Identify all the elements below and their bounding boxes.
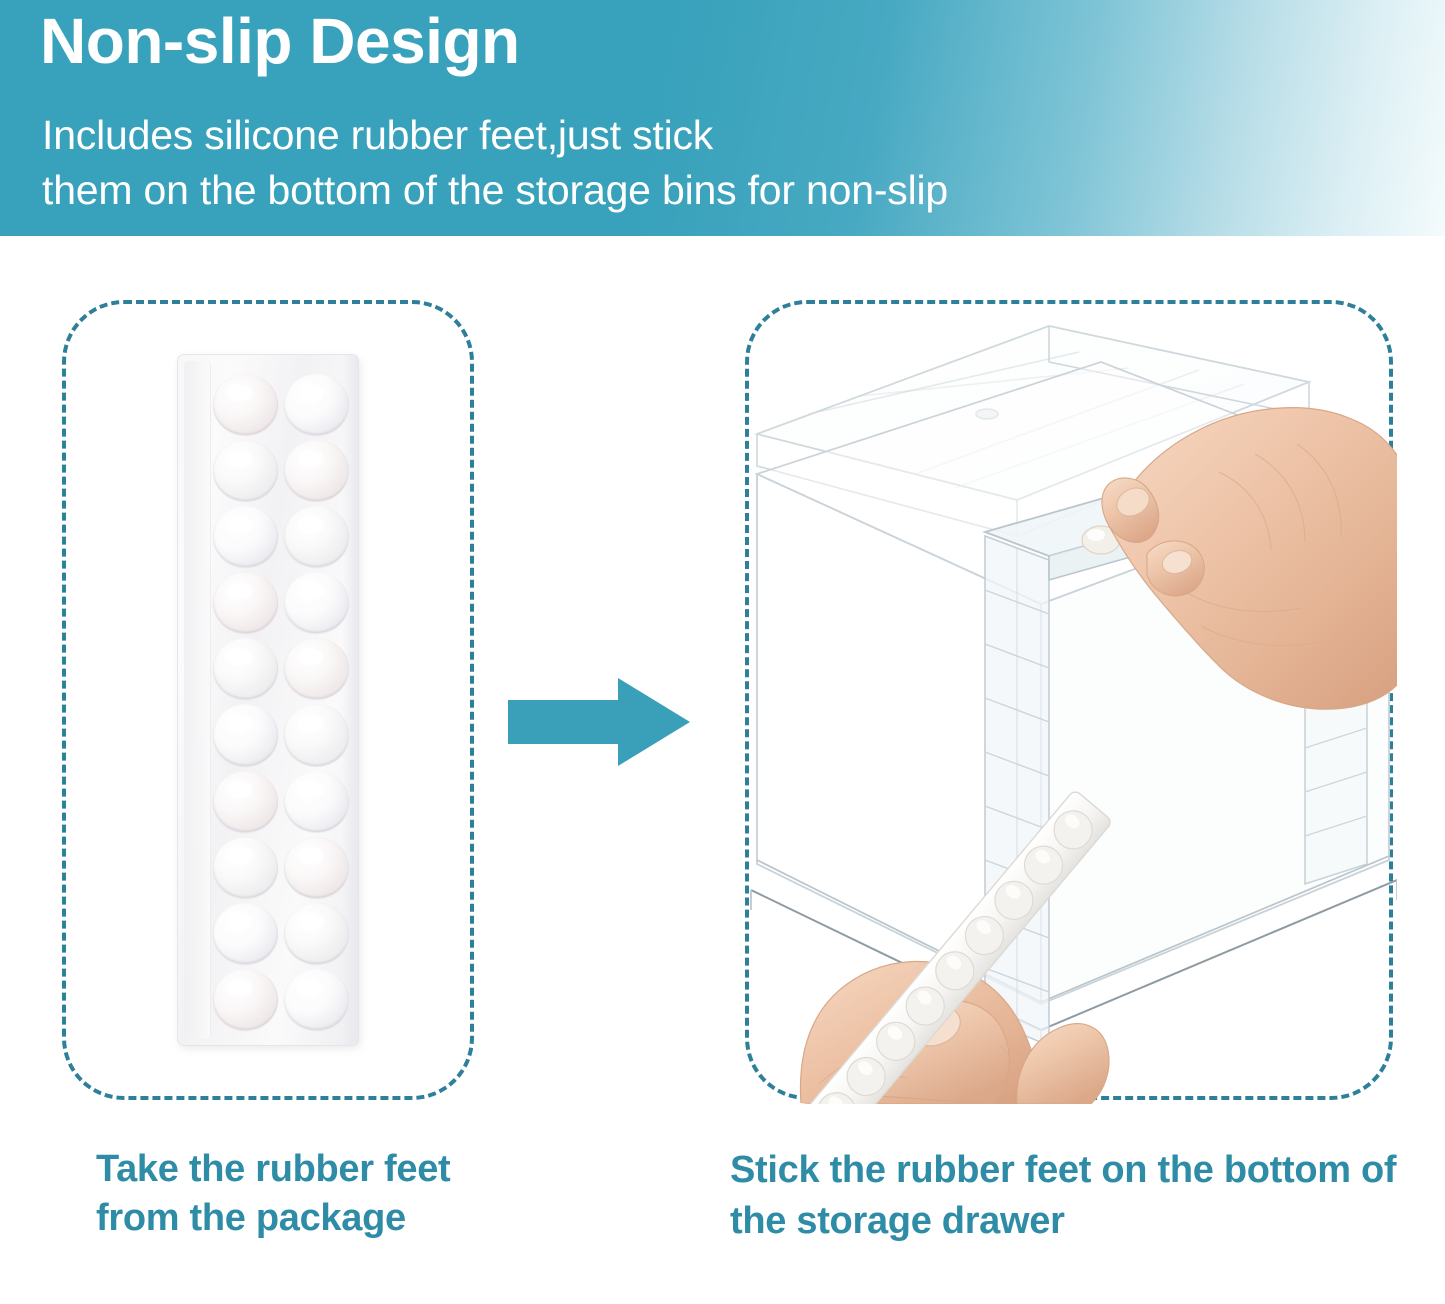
rubber-foot [284,572,349,633]
rubber-foot [284,903,349,964]
caption-right: Stick the rubber feet on the bottom of t… [730,1145,1410,1246]
rubber-foot [284,704,349,765]
rubber-foot [284,638,349,699]
right-arrow-svg [508,672,690,772]
rubber-foot [213,374,278,435]
rubber-foot [213,771,278,832]
header-banner: Non-slip Design Includes silicone rubber… [0,0,1445,236]
rubber-foot [284,374,349,435]
rubber-foot [284,969,349,1030]
rubber-feet-grid [212,373,350,1031]
panel-rubber-feet-package [62,300,474,1100]
rubber-foot [213,969,278,1030]
rubber-foot [213,506,278,567]
header-subtitle-line-2: them on the bottom of the storage bins f… [42,163,948,218]
storage-drawer-scene [749,304,1397,1104]
rubber-foot [213,440,278,501]
rubber-foot [213,837,278,898]
rubber-foot [213,704,278,765]
page-title: Non-slip Design [40,8,520,75]
storage-drawer-illustration [749,304,1397,1104]
corner-rail [985,536,1049,1046]
silicone-feet-package-sheet [178,355,358,1045]
caption-left: Take the rubber feet from the package [96,1145,476,1242]
panel-applying-rubber-feet [745,300,1393,1100]
header-subtitle-line-1: Includes silicone rubber feet,just stick [42,112,713,158]
header-subtitle: Includes silicone rubber feet,just stick… [42,108,948,217]
right-arrow-icon [508,672,690,772]
rubber-foot [213,903,278,964]
rubber-foot [213,572,278,633]
rubber-foot [284,771,349,832]
rubber-foot [213,638,278,699]
rubber-foot [284,506,349,567]
rubber-foot [284,440,349,501]
rubber-foot [284,837,349,898]
